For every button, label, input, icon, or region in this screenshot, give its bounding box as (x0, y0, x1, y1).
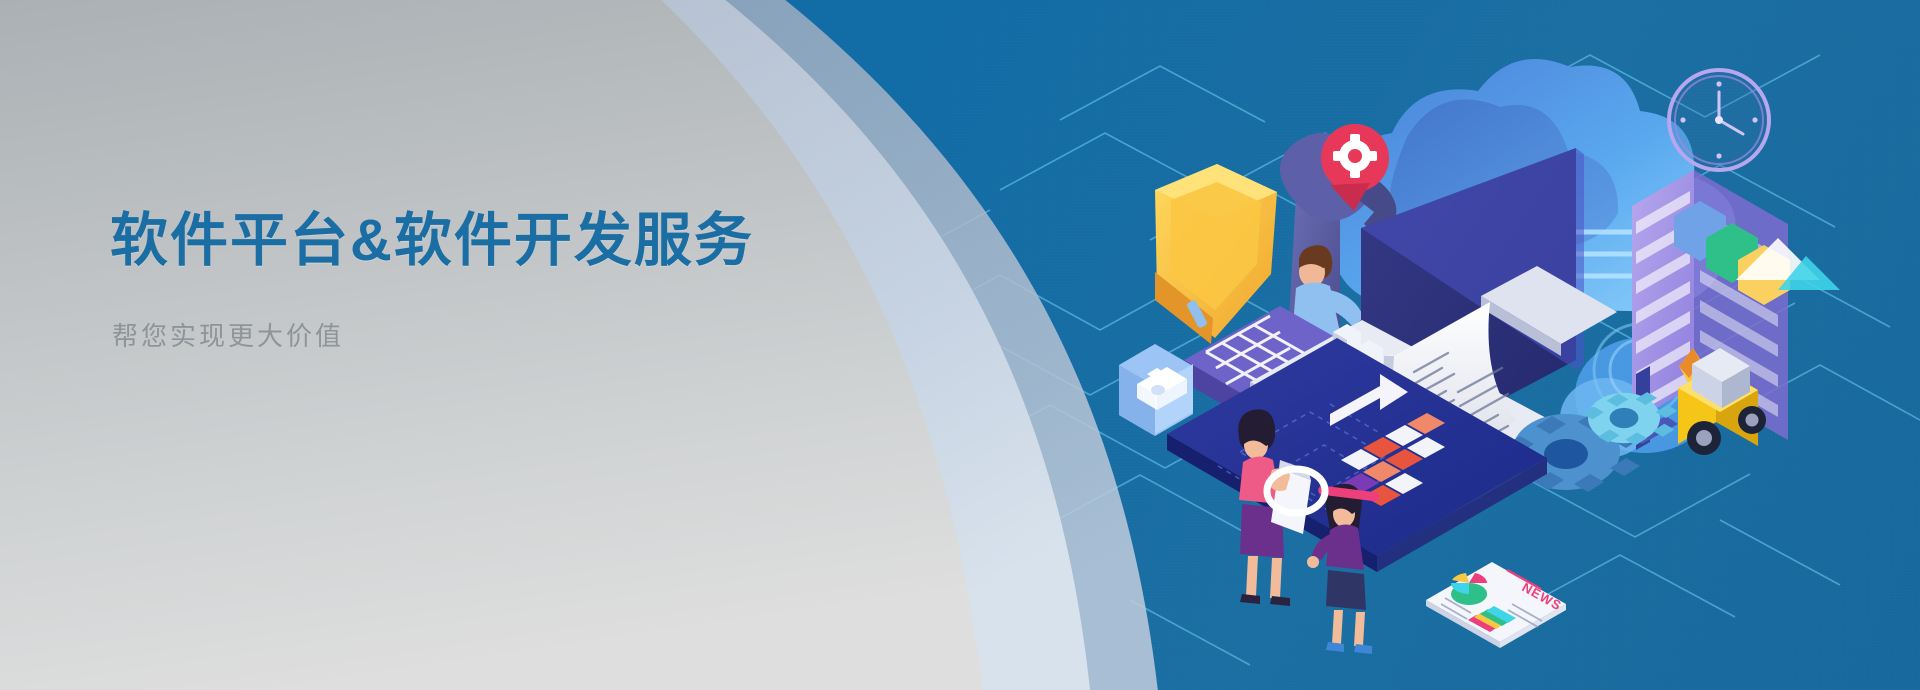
hero-banner: NEWS 软件平台&软件开发服务 帮您实现更大价值 (0, 0, 1920, 690)
clock-icon (1667, 68, 1771, 172)
page-title: 软件平台&软件开发服务 (110, 205, 870, 278)
camera-card-icon (1119, 344, 1193, 436)
shield-icon (1155, 164, 1277, 344)
banner-copy: 软件平台&软件开发服务 帮您实现更大价值 (110, 205, 870, 353)
page-subtitle: 帮您实现更大价值 (112, 316, 870, 353)
news-report-card: NEWS (1426, 562, 1566, 648)
illustration-group: NEWS (1119, 0, 1840, 690)
